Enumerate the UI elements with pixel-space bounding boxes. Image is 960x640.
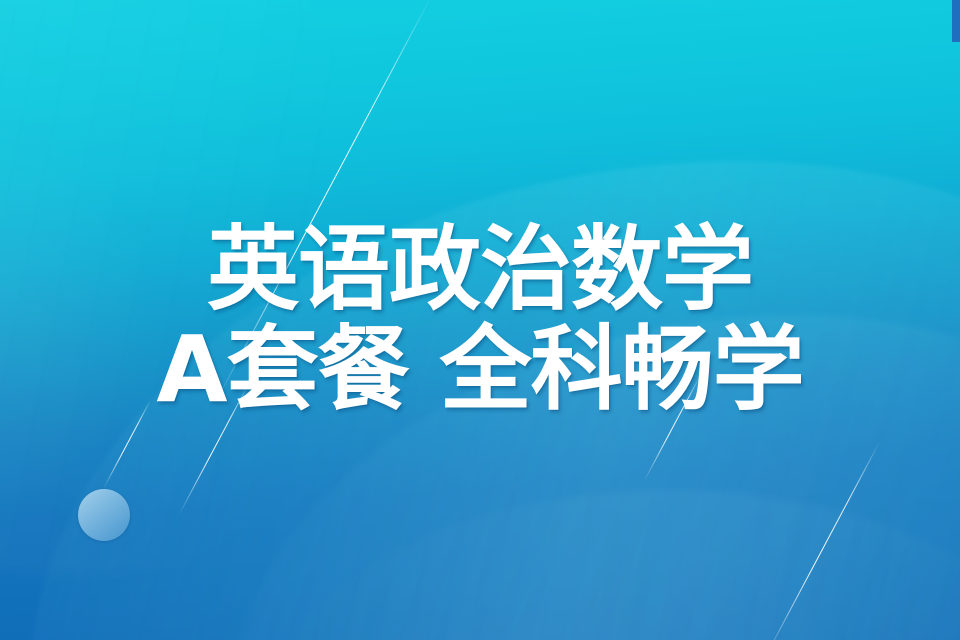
headline-line-1: 英语政治数学 (207, 224, 753, 316)
headline-line-2: A套餐 全科畅学 (156, 324, 803, 416)
promo-banner: 英语政治数学 A套餐 全科畅学 (0, 0, 960, 640)
headline-block: 英语政治数学 A套餐 全科畅学 (0, 0, 960, 640)
